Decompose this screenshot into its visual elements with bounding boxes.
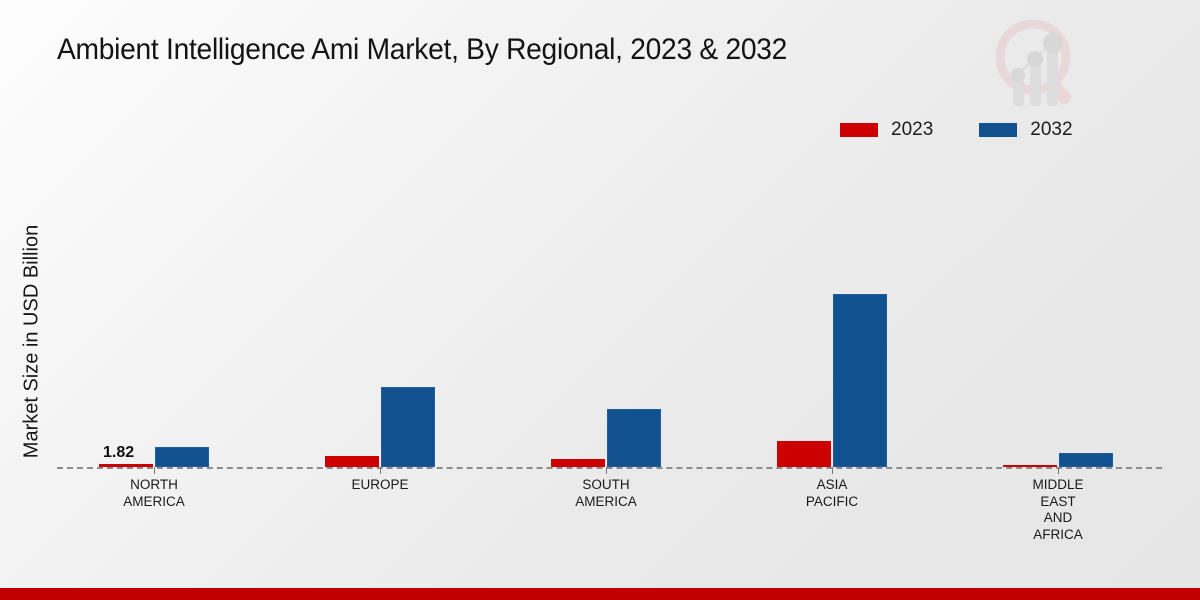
bar-asia-pacific-2023[interactable] xyxy=(777,441,831,467)
x-axis-baseline xyxy=(57,467,1162,469)
bar-north-america-2032[interactable] xyxy=(155,447,209,467)
x-tick-asia-pacific xyxy=(832,467,833,474)
bar-south-america-2032[interactable] xyxy=(607,409,661,467)
legend-label-2023: 2023 xyxy=(891,120,933,139)
bottom-accent-stripe xyxy=(0,588,1200,600)
x-label-south-america: SOUTH AMERICA xyxy=(526,477,686,510)
chart-canvas: Ambient Intelligence Ami Market, By Regi… xyxy=(0,0,1200,600)
y-axis-title: Market Size in USD Billion xyxy=(21,172,44,512)
x-label-asia-pacific: ASIA PACIFIC xyxy=(752,477,912,510)
chart-title: Ambient Intelligence Ami Market, By Regi… xyxy=(57,33,787,67)
chart-legend: 2023 2032 xyxy=(840,120,1073,139)
legend-item-2023[interactable]: 2023 xyxy=(840,120,933,139)
magnifier-bar-chart-logo-icon xyxy=(985,12,1090,112)
x-tick-mea xyxy=(1058,467,1059,474)
x-tick-north-america xyxy=(154,467,155,474)
bar-europe-2032[interactable] xyxy=(381,387,435,467)
bar-europe-2023[interactable] xyxy=(325,456,379,467)
bar-group-mea xyxy=(1003,453,1113,467)
x-label-mea: MIDDLE EAST AND AFRICA xyxy=(978,477,1138,543)
bar-south-america-2023[interactable] xyxy=(551,459,605,467)
bar-mea-2023[interactable] xyxy=(1003,465,1057,467)
plot-area: NORTH AMERICAEUROPESOUTH AMERICAASIA PAC… xyxy=(57,160,1162,468)
legend-swatch-2032 xyxy=(979,123,1017,137)
bar-north-america-2023[interactable] xyxy=(99,464,153,467)
bar-group-south-america xyxy=(551,409,661,467)
x-label-north-america: NORTH AMERICA xyxy=(74,477,234,510)
data-label-north-america-2023: 1.82 xyxy=(103,444,134,462)
legend-label-2032: 2032 xyxy=(1030,120,1072,139)
legend-item-2032[interactable]: 2032 xyxy=(979,120,1072,139)
x-tick-south-america xyxy=(606,467,607,474)
bar-group-europe xyxy=(325,387,435,467)
bar-asia-pacific-2032[interactable] xyxy=(833,294,887,467)
x-label-europe: EUROPE xyxy=(300,477,460,494)
x-tick-europe xyxy=(380,467,381,474)
bar-group-asia-pacific xyxy=(777,294,887,467)
legend-swatch-2023 xyxy=(840,123,878,137)
bar-mea-2032[interactable] xyxy=(1059,453,1113,467)
